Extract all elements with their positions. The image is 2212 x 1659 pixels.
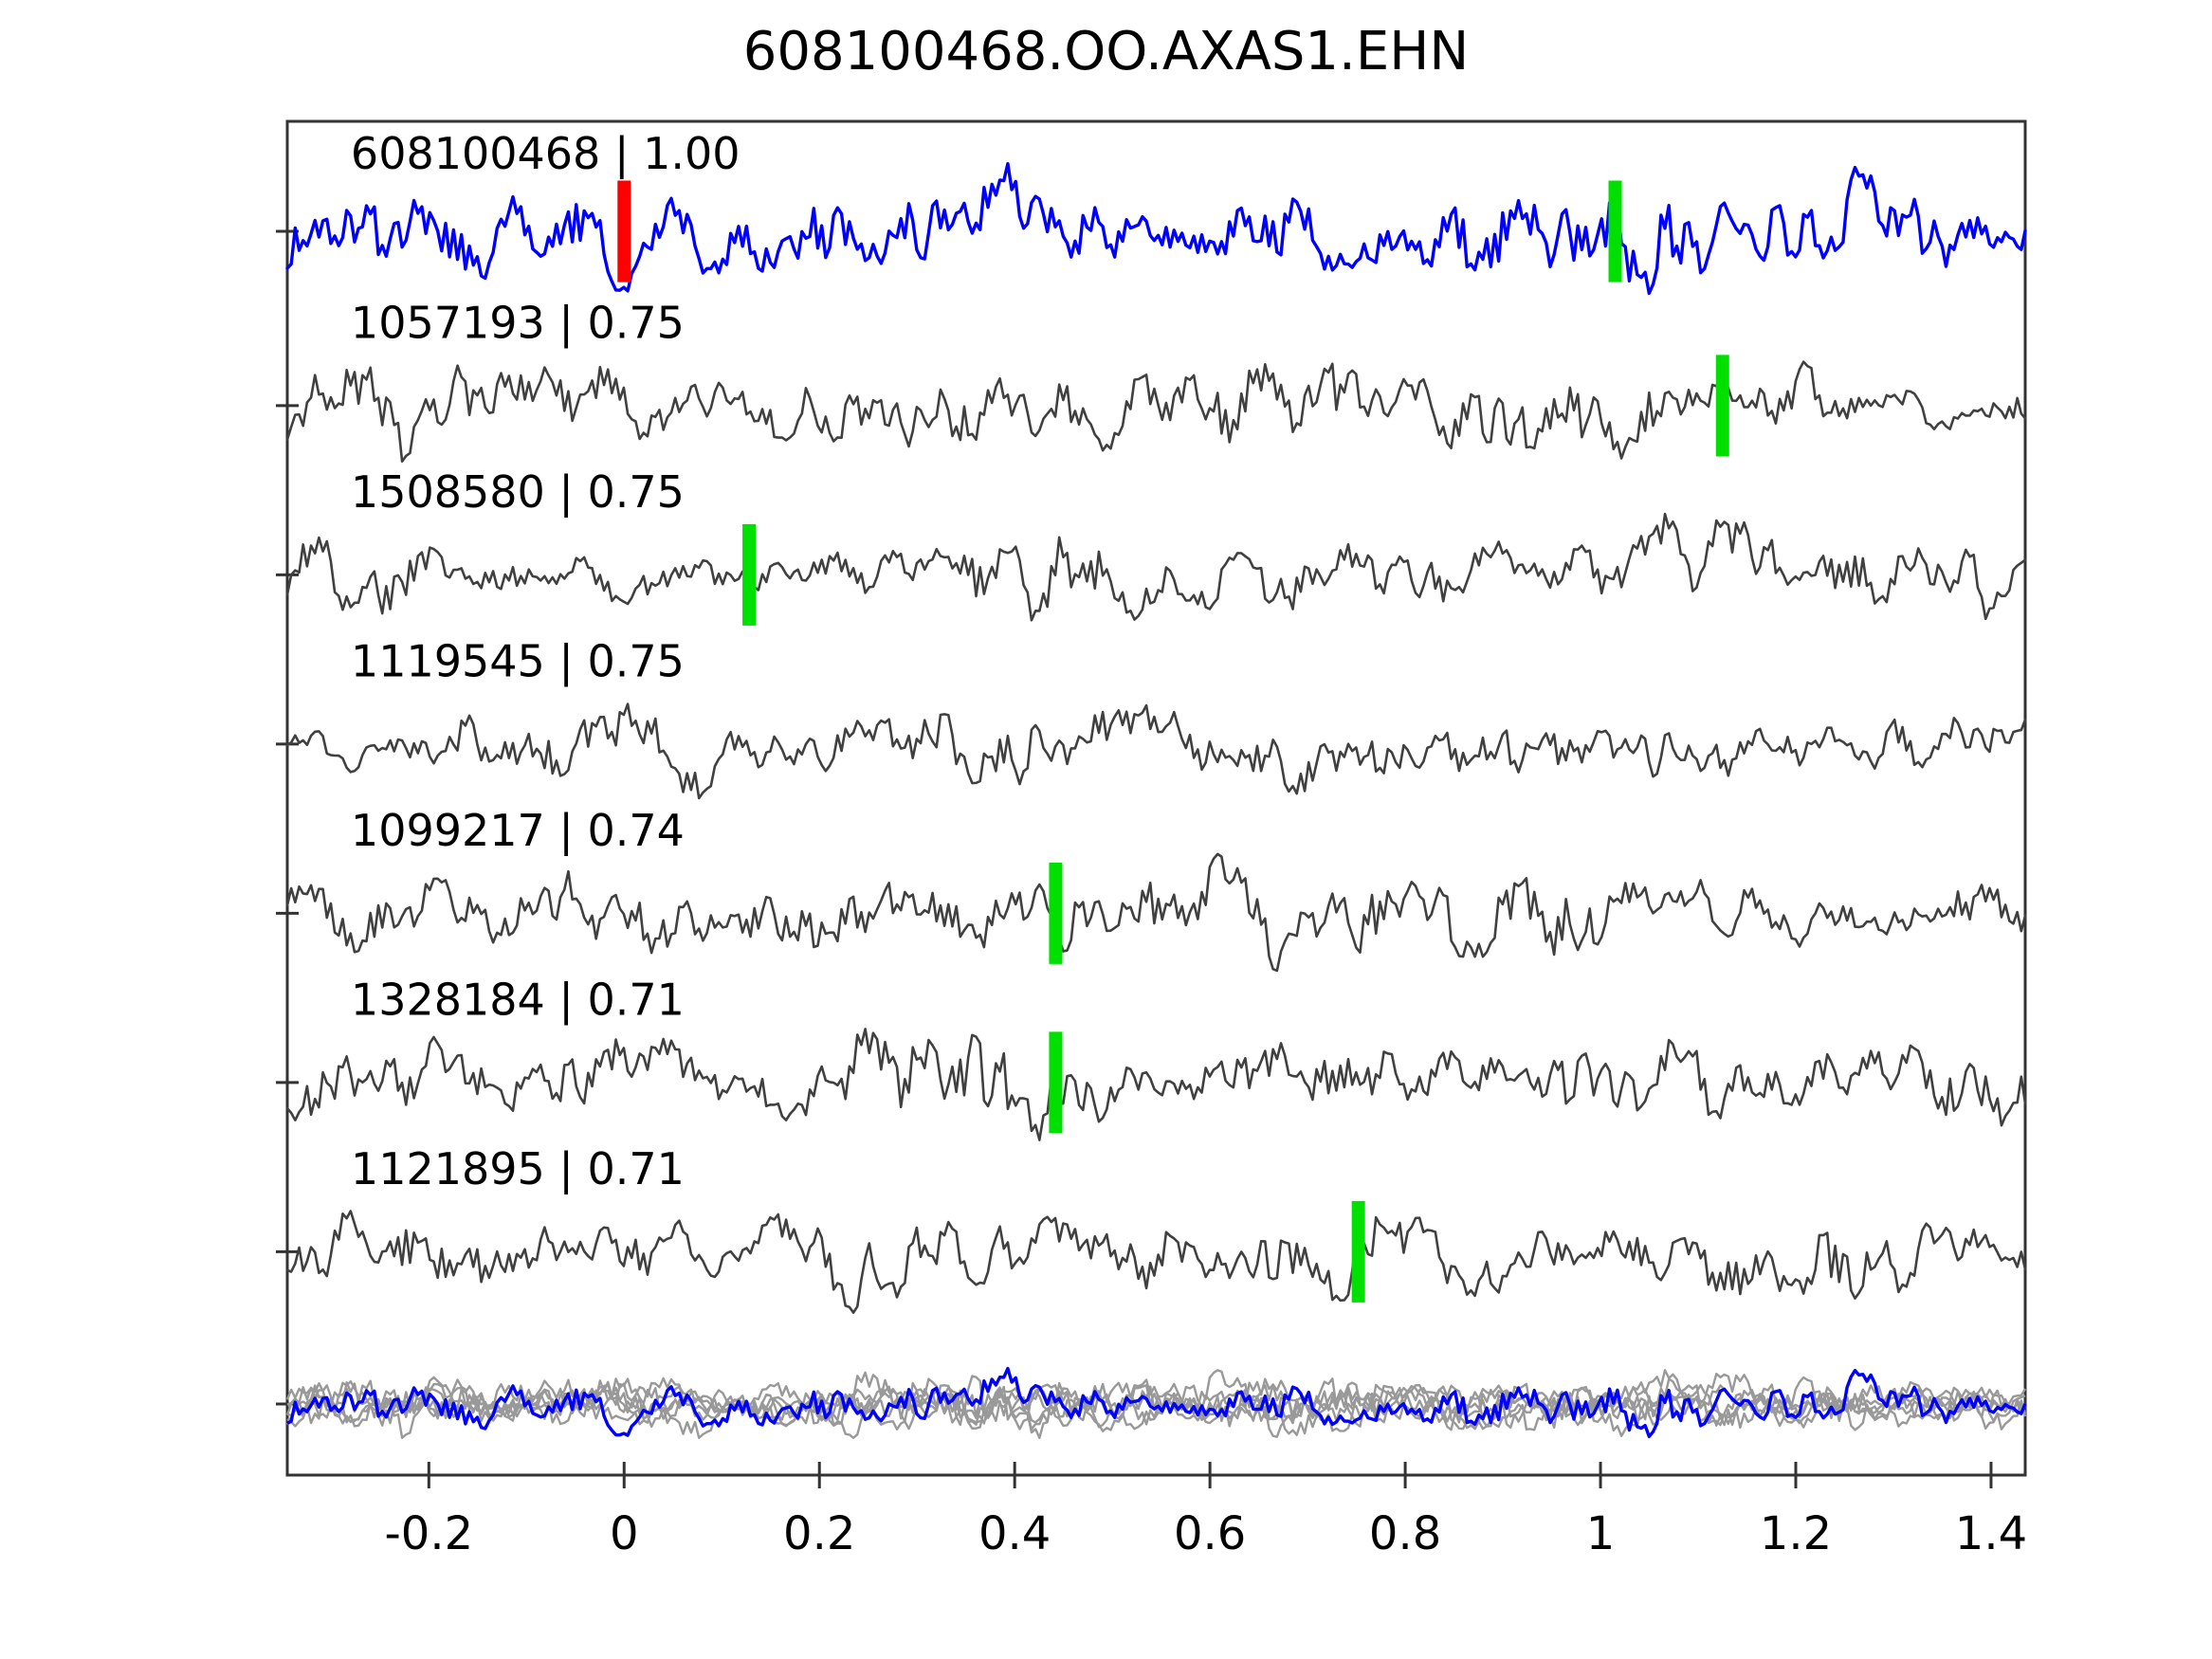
x-tick-label: 0: [610, 1507, 639, 1560]
trace-label-1121895: 1121895 | 0.71: [351, 1143, 685, 1195]
x-tick-label: 0.6: [1174, 1507, 1246, 1560]
x-tick-label: 0.8: [1369, 1507, 1441, 1560]
pick-markers: [624, 180, 1722, 1302]
trace-line-1057193: [287, 362, 2025, 462]
trace-label-1328184: 1328184 | 0.71: [351, 974, 685, 1026]
trace-label-608100468: 608100468 | 1.00: [351, 128, 740, 180]
trace-labels: 608100468 | 1.001057193 | 0.751508580 | …: [351, 128, 740, 1195]
trace-line-608100468: [287, 164, 2025, 294]
trace-line-1099217: [287, 854, 2025, 971]
x-tick-label: 1.2: [1760, 1507, 1832, 1560]
plot-axes: 608100468 | 1.001057193 | 0.751508580 | …: [0, 0, 2212, 1659]
trace-lines: [287, 164, 2025, 1438]
seismic-waveform-figure: 608100468.OO.AXAS1.EHN 608100468 | 1.001…: [0, 0, 2212, 1659]
x-tick-label: 0.4: [978, 1507, 1051, 1560]
trace-label-1508580: 1508580 | 0.75: [351, 466, 685, 519]
trace-line-1119545: [287, 704, 2025, 798]
trace-label-1119545: 1119545 | 0.75: [351, 635, 685, 687]
trace-line-1508580: [287, 514, 2025, 620]
x-axis-ticks: -0.200.20.40.60.811.21.4: [384, 1462, 2027, 1560]
x-tick-label: 1: [1586, 1507, 1616, 1560]
x-tick-label: -0.2: [384, 1507, 473, 1560]
x-tick-label: 1.4: [1955, 1507, 2027, 1560]
trace-line-1121895: [287, 1211, 2025, 1312]
x-tick-label: 0.2: [783, 1507, 855, 1560]
trace-line-1328184: [287, 1029, 2025, 1139]
trace-label-1057193: 1057193 | 0.75: [351, 297, 685, 349]
trace-label-1099217: 1099217 | 0.74: [351, 805, 685, 857]
